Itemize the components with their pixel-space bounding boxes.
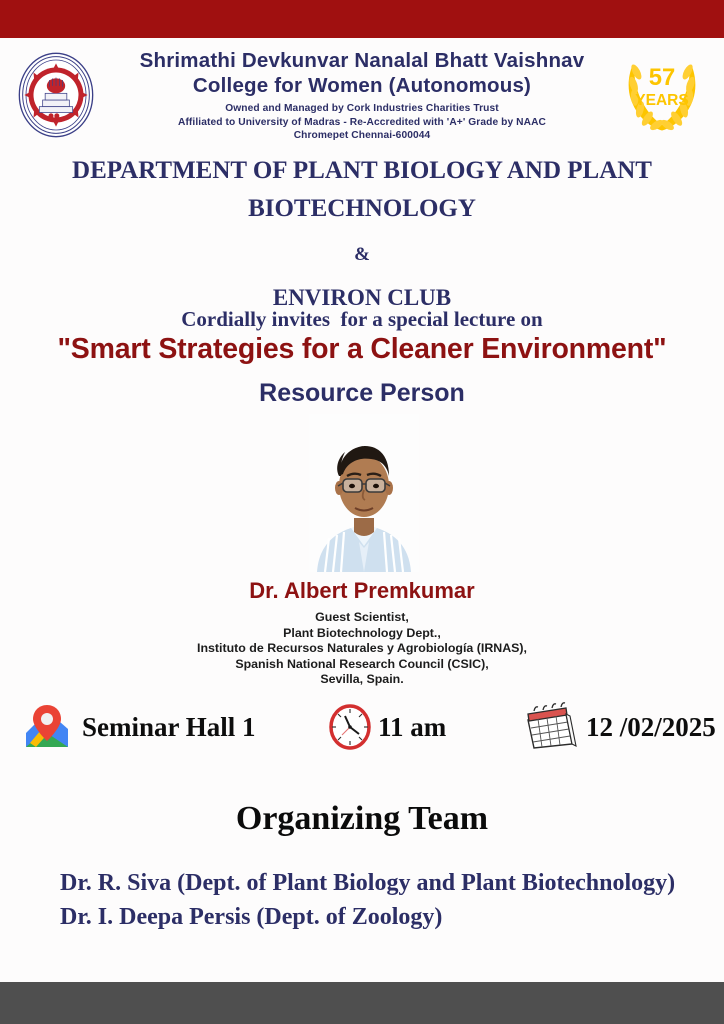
time-detail: 11 am [328,698,446,756]
department-block: DEPARTMENT OF PLANT BIOLOGY AND PLANT BI… [0,152,724,315]
lecture-title: "Smart Strategies for a Cleaner Environm… [0,333,724,366]
invitation-poster: Shrimathi Devkunvar Nanalal Bhatt Vaishn… [0,0,724,1024]
organizing-member: Dr. I. Deepa Persis (Dept. of Zoology) [60,900,700,934]
map-pin-icon [22,703,72,751]
poster-header: Shrimathi Devkunvar Nanalal Bhatt Vaishn… [0,42,724,144]
date-detail: 12 /02/2025 [522,698,716,756]
date-text: 12 /02/2025 [586,712,716,743]
venue-text: Seminar Hall 1 [82,712,256,743]
header-subline-3: Chromepet Chennai-600044 [106,129,618,143]
laurel-wreath-icon: 57 YEARS [616,50,708,136]
college-name-line2: College for Women (Autonomous) [106,73,618,98]
invite-line: Cordially invites for a special lecture … [0,307,724,332]
affiliation-line-2: Plant Biotechnology Dept., [0,626,724,642]
top-color-band [0,0,724,38]
affiliation-line-5: Sevilla, Spain. [0,672,724,688]
clock-icon [328,704,372,750]
affiliation-line-1: Guest Scientist, [0,610,724,626]
calendar-icon [522,702,578,752]
speaker-portrait [309,414,419,572]
organizing-member: Dr. R. Siva (Dept. of Plant Biology and … [60,866,700,900]
header-subline-1: Owned and Managed by Cork Industries Cha… [106,102,618,116]
venue-detail: Seminar Hall 1 [22,698,256,756]
badge-label-text: YEARS [635,92,689,109]
organizing-team-heading: Organizing Team [0,800,724,838]
time-text: 11 am [378,712,446,743]
resource-person-label: Resource Person [0,379,724,408]
department-title: DEPARTMENT OF PLANT BIOLOGY AND PLANT BI… [0,152,724,228]
college-crest-icon [14,50,98,140]
speaker-affiliation: Guest Scientist, Plant Biotechnology Dep… [0,610,724,688]
speaker-name: Dr. Albert Premkumar [0,578,724,604]
organizing-team-list: Dr. R. Siva (Dept. of Plant Biology and … [60,866,700,934]
affiliation-line-3: Instituto de Recursos Naturales y Agrobi… [0,641,724,657]
bottom-color-band [0,982,724,1024]
badge-number-text: 57 [649,64,675,91]
affiliation-line-4: Spanish National Research Council (CSIC)… [0,657,724,673]
event-details-row: Seminar Hall 1 11 [0,698,724,756]
ampersand: & [0,238,724,272]
header-text-block: Shrimathi Devkunvar Nanalal Bhatt Vaishn… [106,48,618,143]
college-name-line1: Shrimathi Devkunvar Nanalal Bhatt Vaishn… [106,48,618,73]
header-subline-2: Affiliated to University of Madras - Re-… [106,116,618,130]
